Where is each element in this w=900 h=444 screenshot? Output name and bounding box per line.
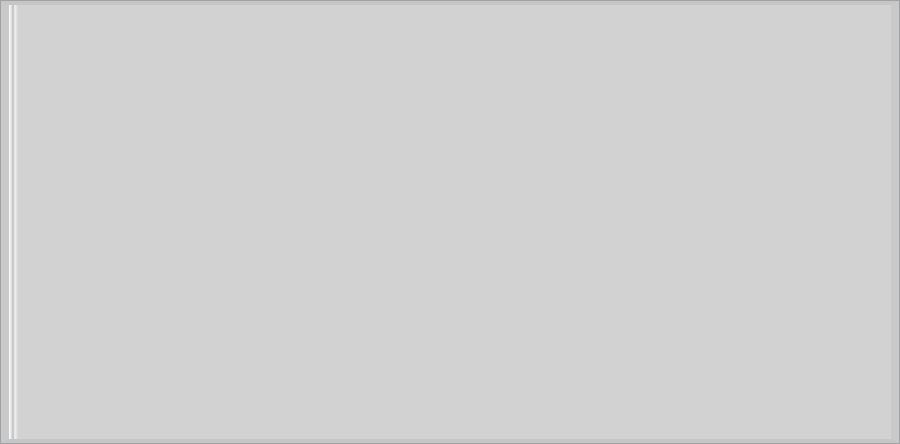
headline-block: Mein Fotokurs in 6 Lektionen xyxy=(496,307,662,365)
cabinet-handles xyxy=(701,269,767,374)
cabinet-handle-icon xyxy=(716,358,753,367)
slide-canvas: 1. ENTWICKELN 2. UNTERBRECHEN 3. FIXIERE… xyxy=(0,0,900,444)
caption-archivieren: 6. ARCHIVIEREN xyxy=(692,377,809,394)
photo-fixieren xyxy=(284,30,385,145)
cabinet-handle-icon xyxy=(716,320,753,329)
polaroid-card-unterbrechen[interactable]: 2. UNTERBRECHEN xyxy=(193,229,335,383)
photo-waessern xyxy=(503,80,615,197)
photo-archivieren xyxy=(691,261,809,378)
polaroid-card-waessern[interactable]: 4. WÄSSERN xyxy=(495,73,621,221)
photo-entwickeln xyxy=(81,33,195,150)
caption-fixieren: 3. FIXIEREN xyxy=(283,144,383,161)
photo-unterbrechen xyxy=(200,237,327,360)
cabinet-handle-icon xyxy=(716,299,753,308)
presentation-slide: 1. ENTWICKELN 2. UNTERBRECHEN 3. FIXIERE… xyxy=(9,5,891,439)
arrow-2-to-3 xyxy=(313,177,413,253)
polaroid-card-entwickeln[interactable]: 1. ENTWICKELN xyxy=(74,26,203,174)
headline-line-2-suffix: Lektionen xyxy=(553,346,659,365)
cabinet-handle-icon xyxy=(716,340,753,349)
headline-line-2-prefix: in xyxy=(496,346,516,365)
headline-line-1: Mein Fotokurs xyxy=(496,307,662,326)
polaroid-card-trocknen[interactable]: 5. TROCKNEN xyxy=(720,29,851,180)
caption-waessern: 4. WÄSSERN xyxy=(503,196,614,213)
photo-trocknen xyxy=(727,36,844,156)
cabinet-handle-icon xyxy=(715,278,752,287)
photo-trocknen-detail xyxy=(727,36,844,156)
background-shadow-blotch xyxy=(339,200,459,415)
arrow-5-to-6 xyxy=(820,194,858,289)
headline-line-2: in 6 Lektionen xyxy=(496,331,662,365)
headline-number-six: 6 xyxy=(522,338,551,367)
caption-entwickeln: 1. ENTWICKELN xyxy=(83,149,196,166)
caption-trocknen: 5. TROCKNEN xyxy=(727,155,843,172)
polaroid-card-archivieren[interactable]: 6. ARCHIVIEREN xyxy=(684,254,816,403)
vertical-dotted-guide xyxy=(450,5,451,439)
polaroid-card-fixieren[interactable]: 3. FIXIEREN xyxy=(276,23,391,168)
